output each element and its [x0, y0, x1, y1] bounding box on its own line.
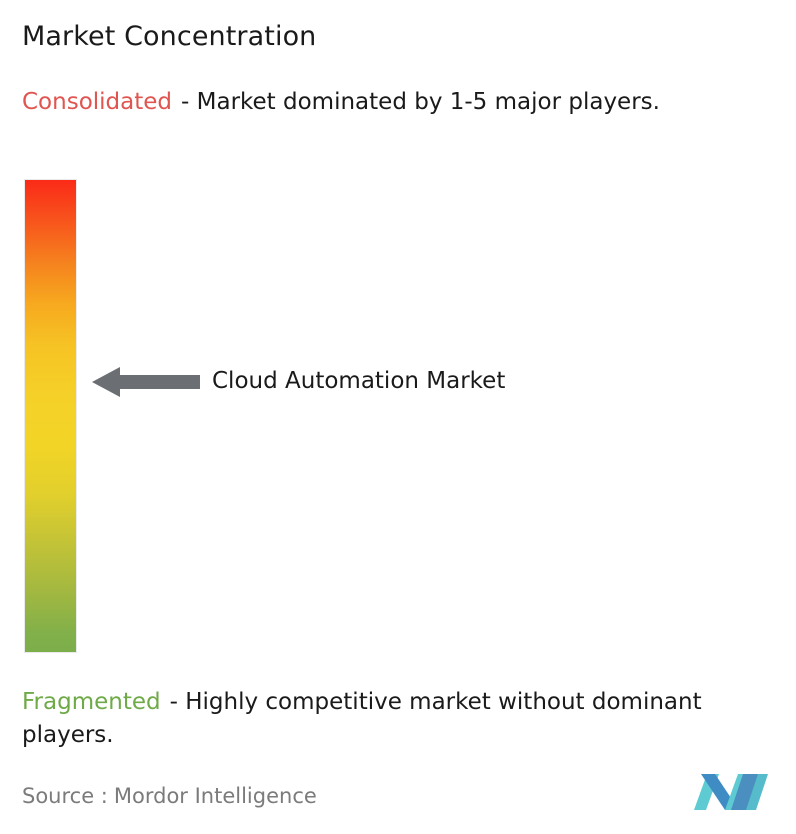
source-label: Source : [22, 784, 108, 808]
source-value: Mordor Intelligence [114, 784, 317, 808]
arrow-left-icon [92, 365, 200, 399]
legend-fragmented-dash: - [170, 689, 178, 715]
legend-consolidated-dash: - [181, 89, 189, 115]
legend-consolidated: Consolidated- Market dominated by 1-5 ma… [22, 86, 774, 119]
legend-consolidated-description: Market dominated by 1-5 major players. [197, 89, 660, 115]
page-title: Market Concentration [22, 20, 316, 54]
legend-fragmented-keyword: Fragmented [22, 689, 161, 715]
mordor-intelligence-logo [694, 768, 776, 818]
legend-consolidated-keyword: Consolidated [22, 89, 172, 115]
market-concentration-gradient-bar [25, 180, 76, 652]
legend-fragmented: Fragmented- Highly competitive market wi… [22, 686, 784, 752]
market-marker-label: Cloud Automation Market [212, 366, 505, 397]
source-attribution: Source :Mordor Intelligence [22, 782, 317, 810]
